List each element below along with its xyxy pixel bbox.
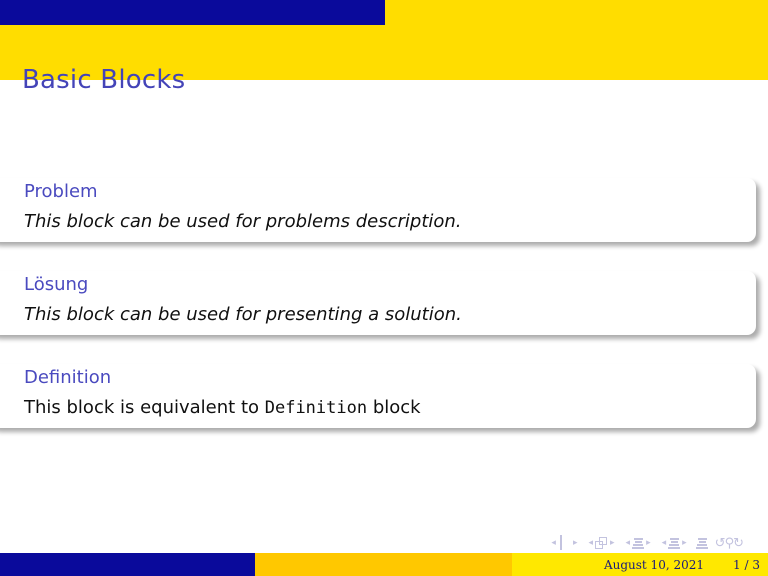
document-lines-icon[interactable] bbox=[668, 537, 680, 549]
footline-date-segment: August 10, 2021 1 / 3 bbox=[512, 553, 768, 576]
block-loesung-body: This block can be used for presenting a … bbox=[0, 297, 756, 326]
appendix-lines-icon[interactable] bbox=[696, 537, 708, 549]
footer-date: August 10, 2021 bbox=[604, 558, 704, 572]
headline-bar bbox=[0, 0, 768, 25]
section-lines-icon[interactable] bbox=[632, 537, 644, 549]
footline-author-segment bbox=[0, 553, 255, 576]
footline: August 10, 2021 1 / 3 bbox=[0, 553, 768, 576]
block-definition-body: This block is equivalent to Definition b… bbox=[0, 390, 756, 419]
section-previous-icon[interactable]: ◂ bbox=[624, 539, 633, 548]
nav-group-appendix[interactable] bbox=[696, 537, 708, 549]
go-forward-icon[interactable]: ↻ bbox=[733, 537, 743, 550]
footer-frame-number: 1 / 3 bbox=[730, 558, 760, 572]
frame-next-icon[interactable]: ▸ bbox=[571, 539, 580, 548]
block-definition-body-prefix: This block is equivalent to bbox=[24, 397, 265, 418]
footline-title-segment bbox=[255, 553, 512, 576]
subsection-next-icon[interactable]: ▸ bbox=[608, 539, 617, 548]
frame-previous-icon[interactable]: ◂ bbox=[549, 539, 558, 548]
frame-title-bar: Basic Blocks bbox=[0, 25, 768, 80]
presentation-previous-icon[interactable]: ◂ bbox=[660, 539, 669, 548]
block-problem-body: This block can be used for problems desc… bbox=[0, 204, 756, 233]
stacked-frames-icon[interactable] bbox=[595, 537, 608, 550]
block-definition-title: Definition bbox=[0, 367, 756, 390]
block-definition-body-suffix: block bbox=[367, 397, 420, 418]
nav-group-subsection[interactable]: ◂ ▸ bbox=[586, 537, 616, 550]
nav-group-presentation[interactable]: ◂ ▸ bbox=[660, 537, 689, 549]
block-problem: Problem This block can be used for probl… bbox=[0, 178, 756, 242]
subsection-previous-icon[interactable]: ◂ bbox=[586, 539, 595, 548]
block-problem-title: Problem bbox=[0, 181, 756, 204]
block-loesung-title: Lösung bbox=[0, 274, 756, 297]
headline-bar-left-segment bbox=[0, 0, 385, 25]
page-title: Basic Blocks bbox=[22, 65, 185, 95]
beamer-navigation-symbols[interactable]: ◂ ▸ ◂ ▸ ◂ ▸ ◂ ▸ ↺ ⚲ ↻ bbox=[549, 534, 750, 552]
go-back-icon[interactable]: ↺ bbox=[715, 537, 725, 550]
block-definition: Definition This block is equivalent to D… bbox=[0, 364, 756, 428]
nav-group-section[interactable]: ◂ ▸ bbox=[624, 537, 653, 549]
nav-group-history[interactable]: ↺ ⚲ ↻ bbox=[715, 537, 743, 550]
nav-group-frame[interactable]: ◂ ▸ bbox=[549, 537, 579, 550]
block-definition-body-mono: Definition bbox=[265, 398, 367, 418]
find-icon[interactable]: ⚲ bbox=[725, 537, 734, 550]
frame-icon[interactable] bbox=[558, 537, 571, 550]
section-next-icon[interactable]: ▸ bbox=[644, 539, 653, 548]
block-loesung: Lösung This block can be used for presen… bbox=[0, 271, 756, 335]
presentation-next-icon[interactable]: ▸ bbox=[680, 539, 689, 548]
